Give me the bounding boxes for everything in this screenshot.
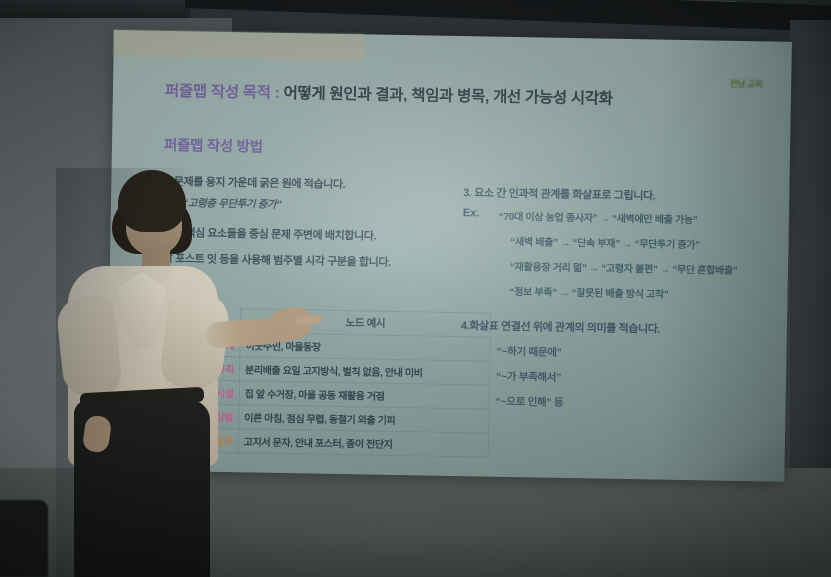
meaning-example-1: “~하기 때문에” bbox=[496, 344, 561, 360]
arrow-example-2: “새벽 배출” → “단속 부재” → “무단투기 증가” bbox=[510, 233, 700, 251]
wall-right bbox=[790, 20, 831, 480]
organization-logo: 전남 교육 bbox=[725, 71, 767, 98]
lecture-room-scene: 전남 교육 퍼즐맵 작성 목적 : 어떻게 원인과 결과, 책임과 병목, 개선… bbox=[0, 0, 831, 577]
example-label: Ex. bbox=[463, 207, 480, 219]
presenter-hair bbox=[118, 170, 186, 232]
right-step-3: 3. 요소 간 인과적 관계를 화살표로 그립니다. bbox=[463, 184, 655, 203]
chair bbox=[0, 500, 48, 577]
slide-title-rest: 어떻게 원인과 결과, 책임과 병목, 개선 가능성 시각화 bbox=[279, 85, 612, 108]
slide-subtitle: 퍼즐맵 작성 방법 bbox=[164, 134, 263, 157]
arrow-example-4: “정보 부족” → “잘못된 배출 방식 고착” bbox=[509, 283, 668, 301]
slide-title-accent: 퍼즐맵 작성 목적 : bbox=[165, 83, 280, 102]
meaning-example-3: “~으로 인해” 등 bbox=[495, 394, 563, 410]
arrow-example-1: “70대 이상 농업 종사자” → “새벽에만 배출 가능” bbox=[499, 208, 698, 226]
presenter-left-sleeve bbox=[55, 293, 123, 399]
slide-title: 퍼즐맵 작성 목적 : 어떻게 원인과 결과, 책임과 병목, 개선 가능성 시… bbox=[165, 79, 613, 109]
presenter bbox=[56, 168, 241, 577]
arrow-example-3: “재활용장 거리 멂” → “고령자 불편” → “무단 혼합배출” bbox=[510, 258, 738, 277]
meaning-example-2: “~가 부족해서” bbox=[496, 369, 561, 385]
table-cell-example: 고지서 문자, 안내 포스터, 종이 전단지 bbox=[238, 429, 488, 457]
